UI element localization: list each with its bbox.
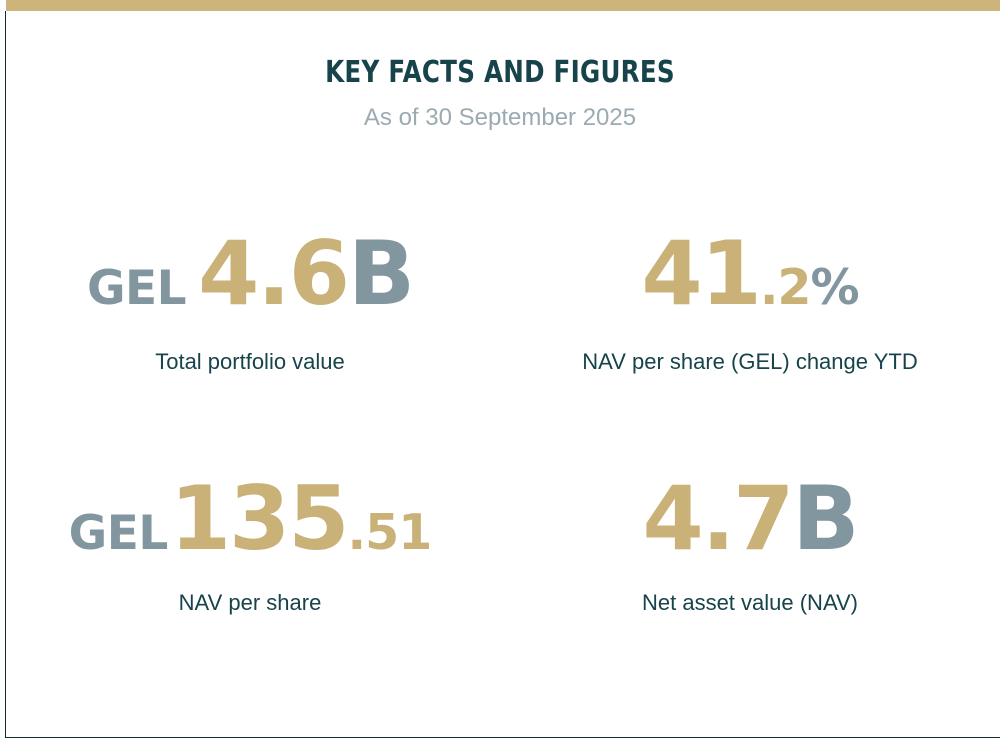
bottom-border-line (5, 737, 1000, 738)
stats-grid: GEL 4.6 B Total portfolio value 41 .2 % … (0, 230, 1000, 617)
top-accent-bar (6, 0, 1000, 11)
stat-value: GEL 135 .51 (69, 475, 432, 567)
header-block: KEY FACTS AND FIGURES As of 30 September… (0, 56, 1000, 133)
stat-value: 41 .2 % (641, 230, 858, 326)
stat-number: 135 (170, 475, 348, 563)
stat-label: NAV per share (179, 589, 322, 617)
stat-suffix: B (792, 475, 857, 563)
stat-number: 4.6 (198, 230, 348, 318)
stat-suffix: B (348, 230, 413, 318)
slide-canvas: KEY FACTS AND FIGURES As of 30 September… (0, 0, 1000, 744)
page-title: KEY FACTS AND FIGURES (90, 56, 910, 89)
currency-unit: GEL (87, 265, 186, 312)
stat-decimal: .51 (348, 508, 432, 557)
stat-net-asset-value: 4.7 B Net asset value (NAV) (500, 475, 1000, 617)
stat-value: 4.7 B (643, 475, 858, 567)
stat-label: NAV per share (GEL) change YTD (582, 348, 917, 376)
stat-nav-per-share-change-ytd: 41 .2 % NAV per share (GEL) change YTD (500, 230, 1000, 475)
stat-suffix: % (811, 263, 859, 312)
stat-label: Net asset value (NAV) (642, 589, 858, 617)
stat-number: 4.7 (643, 475, 793, 563)
stat-decimal: .2 (760, 263, 811, 312)
stat-label: Total portfolio value (155, 348, 345, 376)
page-subtitle: As of 30 September 2025 (0, 104, 1000, 133)
stat-total-portfolio-value: GEL 4.6 B Total portfolio value (0, 230, 500, 475)
stat-value: GEL 4.6 B (87, 230, 413, 326)
currency-unit: GEL (69, 510, 168, 557)
stat-nav-per-share: GEL 135 .51 NAV per share (0, 475, 500, 617)
stat-number: 41 (641, 230, 759, 318)
